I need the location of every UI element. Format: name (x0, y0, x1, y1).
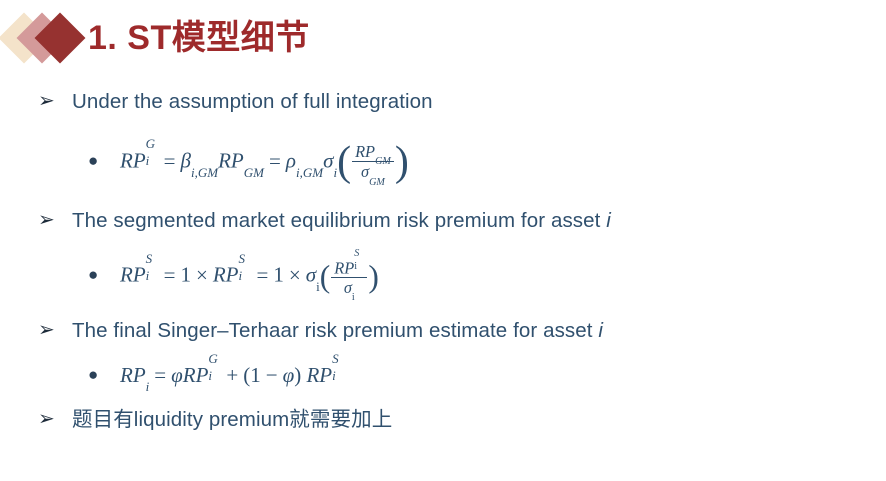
f3-sup3: S (332, 352, 339, 365)
f1-base1: RP (120, 149, 146, 173)
f1-fraction: RPGMσGM (352, 143, 394, 180)
dot-bullet-icon: ● (88, 366, 120, 383)
f1-rp2-sub: GM (244, 165, 264, 180)
slide-title-row: 1. ST模型细节 (0, 6, 310, 70)
f3-phi1: φ (171, 363, 183, 387)
page-title: 1. ST模型细节 (88, 21, 310, 55)
f3-base2: RP (183, 363, 209, 387)
f3-eq1: = (149, 363, 171, 387)
f2-frac-num-sub: i (354, 262, 357, 273)
f2-sigma-sub: i (316, 279, 320, 294)
arrow-bullet-icon: ➢ (38, 409, 72, 429)
bullet-line-4-text: 题目有liquidity premium就需要加上 (72, 402, 392, 432)
f3-sub3: i (332, 369, 336, 382)
f3-sup2: G (208, 352, 217, 365)
f2-one2: 1 (273, 263, 284, 287)
f2-sup1: S (146, 252, 153, 265)
bullet-line-2: ➢ The segmented market equilibrium risk … (0, 209, 886, 233)
f2-sub1: i (146, 269, 150, 282)
f3-sub1: i (146, 379, 150, 394)
f2-base2: RP (213, 263, 239, 287)
f1-rho: ρ (286, 149, 296, 173)
f3-paren-close: ) (294, 363, 301, 387)
slide-body: ➢ Under the assumption of full integrati… (0, 90, 886, 432)
bullet-line-3-italic: i (598, 319, 603, 342)
dot-bullet-icon: ● (88, 152, 120, 169)
f3-phi2: φ (283, 363, 295, 387)
title-decoration-diamonds (0, 7, 92, 69)
bullet-line-2-italic: i (606, 209, 611, 232)
bullet-line-2-text: The segmented market equilibrium risk pr… (72, 209, 611, 233)
bullet-line-3-main: The final Singer–Terhaar risk premium es… (72, 319, 598, 342)
arrow-bullet-icon: ➢ (38, 320, 72, 340)
f2-frac-den: σ (344, 278, 352, 297)
f1-sup1: G (146, 137, 155, 150)
f2-frac-num: RP (334, 258, 354, 277)
f1-beta-sub: i,GM (191, 165, 218, 180)
bullet-line-1: ➢ Under the assumption of full integrati… (0, 90, 886, 114)
f1-sub1: i (146, 154, 150, 167)
f3-base3: RP (306, 363, 332, 387)
f3-one: 1 (250, 363, 261, 387)
f3-sub2: i (208, 369, 212, 382)
f2-eq1: = (159, 263, 181, 287)
formula-3: RPi=φRPGi+(1−φ) RPSi (120, 361, 345, 386)
bullet-line-3: ➢ The final Singer–Terhaar risk premium … (0, 319, 886, 343)
f2-sup2: S (239, 252, 246, 265)
f1-frac-den: σ (361, 162, 369, 181)
f1-eq1: = (159, 149, 181, 173)
f2-eq2: = (252, 263, 274, 287)
bullet-line-2-main: The segmented market equilibrium risk pr… (72, 209, 606, 232)
f2-sub2: i (239, 269, 243, 282)
f1-frac-num: RP (355, 142, 375, 161)
f2-base1: RP (120, 263, 146, 287)
f2-fraction: RPSiσi (331, 257, 367, 297)
formula-2: RPSi=1×RPSi=1×σi(RPSiσi) (120, 257, 379, 297)
f3-plus: + (221, 363, 243, 387)
f2-frac-den-sub: i (352, 292, 355, 303)
formula-line-3: ● RPi=φRPGi+(1−φ) RPSi (0, 361, 886, 386)
formula-line-1: ● RPGi=βi,GMRPGM=ρi,GMσi(RPGMσGM) (0, 144, 886, 181)
f1-rp2: RP (218, 149, 244, 173)
f2-sigma: σ (306, 263, 316, 287)
arrow-bullet-icon: ➢ (38, 91, 72, 111)
f2-times2: × (284, 263, 306, 287)
f1-beta: β (181, 149, 191, 173)
arrow-bullet-icon: ➢ (38, 210, 72, 230)
f2-frac-num-sup: S (354, 249, 359, 260)
f3-minus: − (261, 363, 283, 387)
formula-1: RPGi=βi,GMRPGM=ρi,GMσi(RPGMσGM) (120, 144, 409, 181)
formula-line-2: ● RPSi=1×RPSi=1×σi(RPSiσi) (0, 257, 886, 297)
f1-rho-sub: i,GM (296, 165, 323, 180)
f1-eq2: = (264, 149, 286, 173)
f2-times1: × (191, 263, 213, 287)
bullet-line-1-text: Under the assumption of full integration (72, 90, 433, 114)
f3-base1: RP (120, 363, 146, 387)
dot-bullet-icon: ● (88, 266, 120, 283)
bullet-line-3-text: The final Singer–Terhaar risk premium es… (72, 319, 603, 343)
f1-sigma: σ (323, 149, 333, 173)
f2-one1: 1 (181, 263, 192, 287)
f1-frac-num-sub: GM (375, 156, 391, 167)
f1-frac-den-sub: GM (369, 177, 385, 188)
bullet-line-4: ➢ 题目有liquidity premium就需要加上 (0, 402, 886, 432)
